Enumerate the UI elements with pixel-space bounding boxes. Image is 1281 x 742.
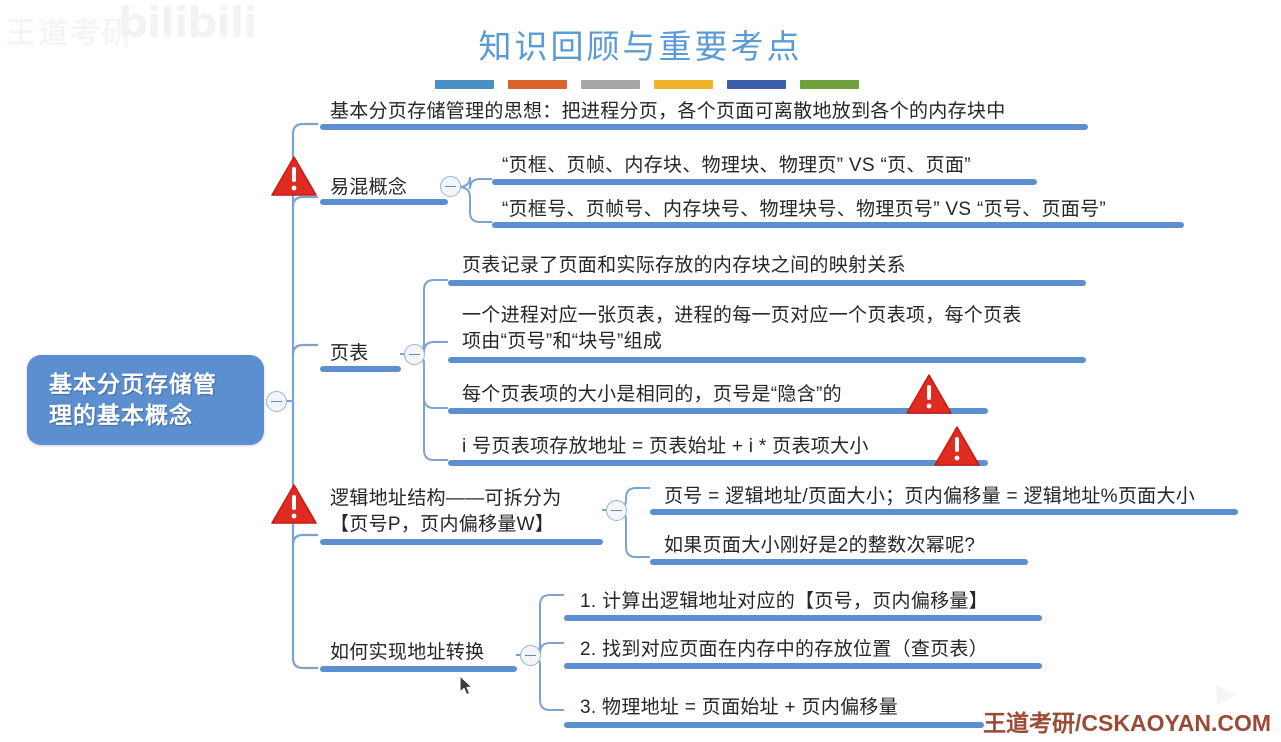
warning-icon: [271, 483, 317, 525]
collapse-toggle-confusing-concepts[interactable]: [440, 176, 461, 197]
node-underline-bar: [564, 722, 984, 728]
warning-icon: [906, 373, 952, 415]
warning-icon: [934, 425, 980, 467]
node-underline-bar: [320, 666, 517, 672]
node-underline-bar: [448, 357, 1086, 363]
collapse-toggle-logical-address[interactable]: [606, 500, 627, 521]
node-underline-bar: [564, 615, 1042, 621]
root-node-label: 基本分页存储管理的基本概念: [49, 369, 249, 431]
watermark-bottom-right: 王道考研/CSKAOYAN.COM: [983, 704, 1271, 738]
node-underline-bar: [492, 179, 1037, 185]
branch-label-logical-address: 逻辑地址结构——可拆分为【页号P，页内偏移量W】: [330, 486, 562, 538]
root-collapse-toggle[interactable]: [266, 391, 287, 412]
warning-icon: [271, 155, 317, 197]
node-underline-bar: [564, 663, 1042, 669]
collapse-toggle-page-table[interactable]: [404, 344, 425, 365]
node-underline-bar: [320, 366, 401, 372]
node-underline-bar: [650, 559, 1028, 565]
root-node[interactable]: 基本分页存储管理的基本概念: [27, 355, 264, 445]
node-underline-bar: [448, 460, 988, 466]
mindmap-canvas: 王道考研 bilibili 知识回顾与重要考点: [0, 0, 1281, 742]
node-underline-bar: [492, 222, 1184, 228]
collapse-toggle-address-translation[interactable]: [520, 645, 541, 666]
node-underline-bar: [320, 124, 1088, 130]
mouse-arrow-cursor: [460, 676, 476, 698]
node-underline-bar: [650, 509, 1238, 515]
node-underline-bar: [448, 280, 1086, 286]
node-underline-bar: [320, 539, 603, 545]
node-underline-bar: [320, 199, 448, 205]
